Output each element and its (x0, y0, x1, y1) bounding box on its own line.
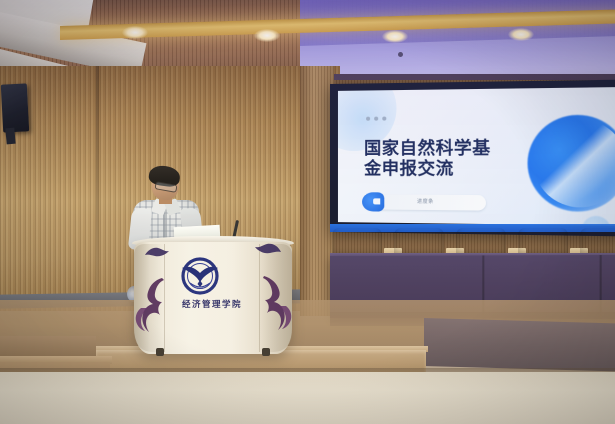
downlight-icon (122, 26, 148, 39)
podium-institution-text: 经济管理学院 (164, 298, 260, 310)
slide-title: 国家自然科学基 金申报交流 (364, 138, 520, 180)
podium: 经济管理学院 (134, 236, 292, 358)
auditorium-photo: 国家自然科学基 金申报交流 进度条 (0, 0, 615, 424)
stage-step-upper (0, 336, 96, 358)
loudspeaker-mount (5, 128, 15, 145)
projection-screen-frame: 国家自然科学基 金申报交流 进度条 (330, 80, 615, 237)
cloud-motif-icon (135, 274, 165, 336)
cloud-motif-small-icon (144, 246, 170, 258)
downlight-icon (254, 29, 280, 42)
podium-foot (156, 348, 164, 356)
slide-title-line-2: 金申报交流 (364, 159, 520, 180)
loudspeaker-icon (1, 83, 29, 132)
slide-title-line-1: 国家自然科学基 (364, 138, 520, 159)
ceiling-fixture-icon (398, 52, 403, 57)
wood-pillar (300, 66, 334, 316)
slide-progress-label: 进度条 (417, 198, 434, 205)
wall-corner-seam (96, 66, 99, 296)
crane-emblem-icon (179, 256, 221, 296)
cloud-motif-icon (260, 270, 292, 334)
downlight-icon (508, 28, 534, 41)
slide-dots-icon (366, 117, 386, 121)
stage-right-surface (424, 318, 615, 371)
slide-progress-knob-icon (362, 192, 384, 211)
downlight-icon (382, 30, 408, 43)
hall-floor (0, 372, 615, 424)
podium-foot (262, 348, 270, 356)
cloud-motif-small-icon (254, 242, 282, 255)
slide-progress-control: 进度条 (364, 194, 486, 210)
projection-screen: 国家自然科学基 金申报交流 进度条 (338, 87, 615, 226)
